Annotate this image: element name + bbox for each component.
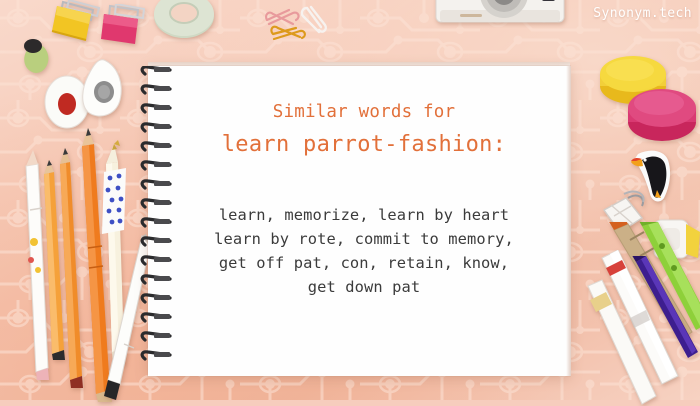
synonym-line: learn, memorize, learn by heart (214, 203, 514, 227)
binder-clip-pink (98, 4, 150, 50)
synonym-line: get off pat, con, retain, know, (214, 251, 514, 275)
camera (430, 0, 570, 34)
washi-tape-dots (98, 168, 132, 238)
avocado-magnet (20, 38, 52, 76)
pen-highlighter-white (14, 150, 58, 380)
heading-prefix: Similar words for (273, 101, 456, 125)
binder-clip-yellow (47, 0, 103, 46)
eraser-gray (74, 58, 126, 120)
notebook-text-area: Similar words for learn parrot-fashion: … (160, 66, 568, 376)
site-logo[interactable]: Synonym.tech (593, 6, 692, 21)
synonym-line: learn by rote, commit to memory, (214, 227, 514, 251)
synonym-list: learn, memorize, learn by heart learn by… (214, 203, 514, 299)
macaron-pink (624, 82, 700, 144)
search-term-title: learn parrot-fashion: (222, 130, 506, 160)
washi-tape-green (152, 0, 216, 48)
synonym-line: get down pat (214, 275, 514, 299)
paperclip-gold (268, 22, 310, 44)
marker-white-right2 (580, 276, 660, 406)
